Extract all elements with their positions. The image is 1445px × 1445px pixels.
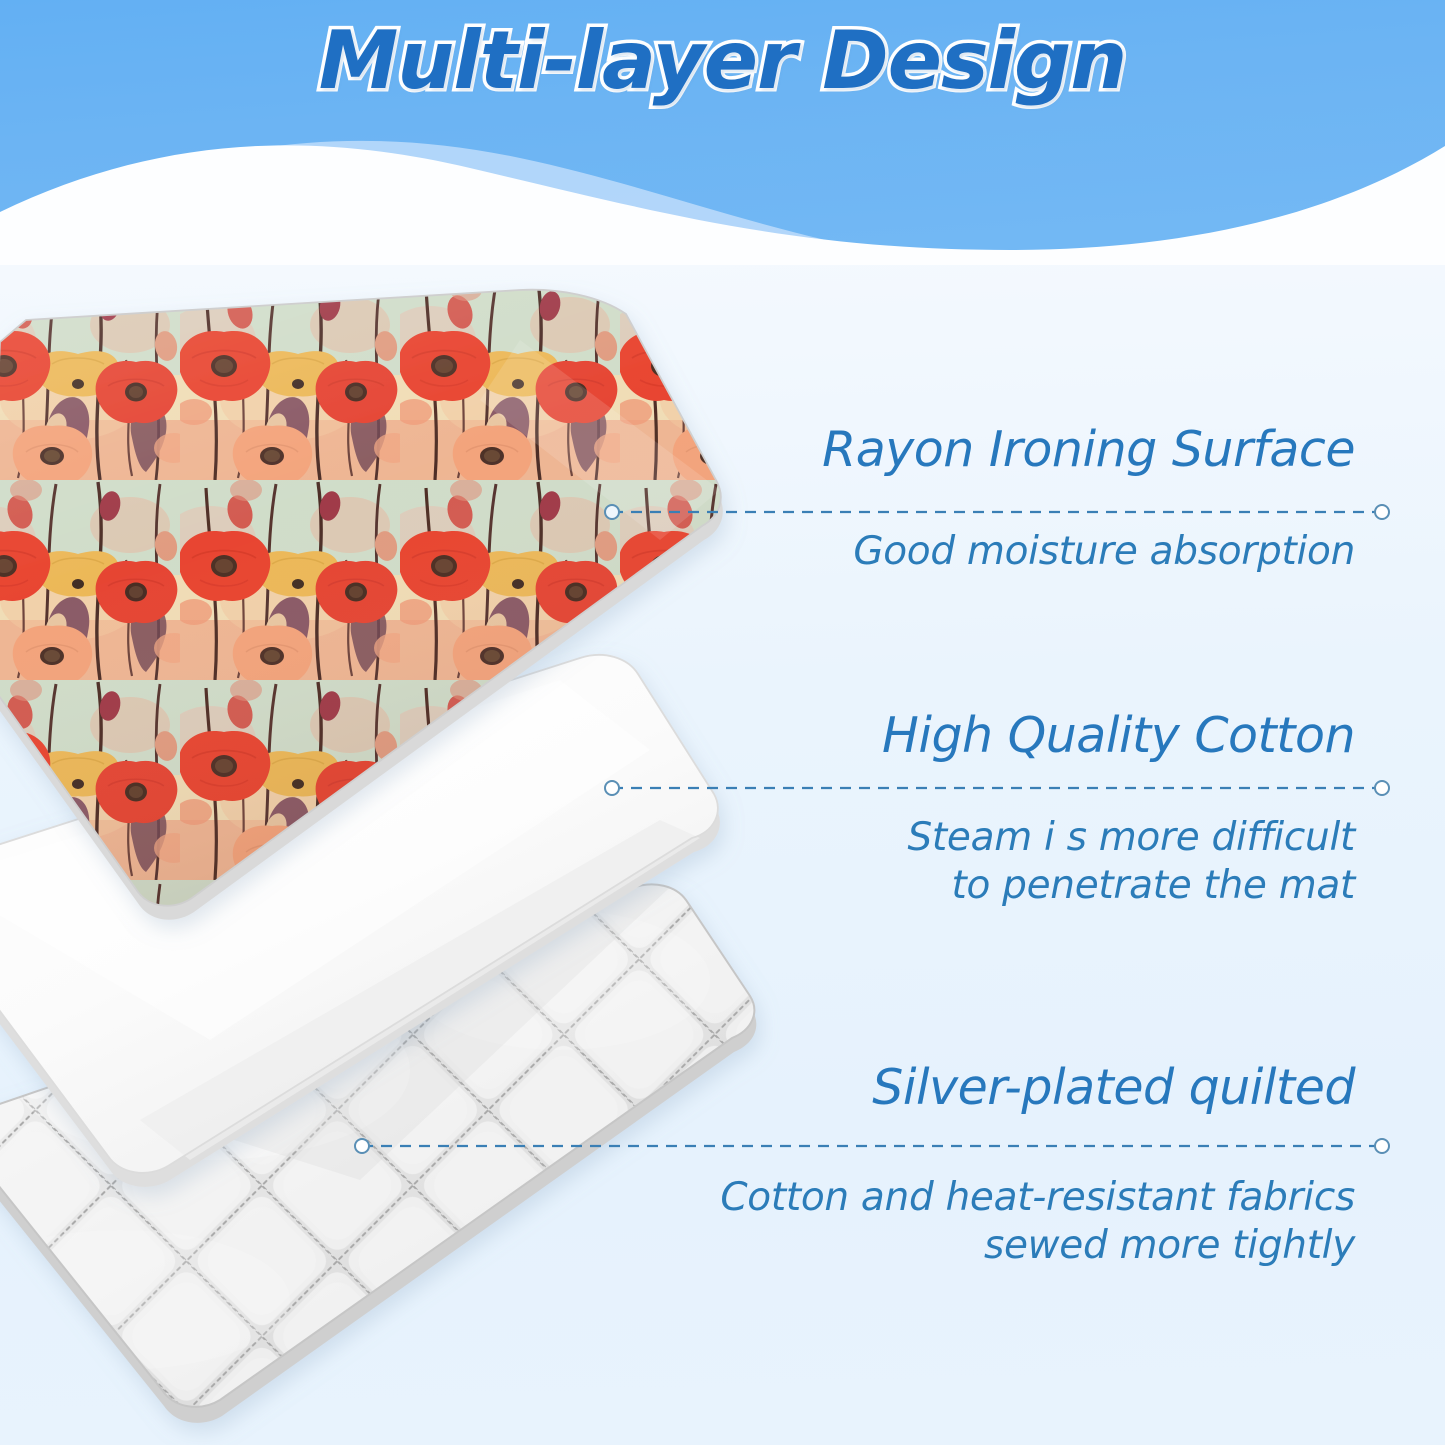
leader-line-quilted bbox=[354, 1138, 1394, 1154]
callout-title-cotton: High Quality Cotton bbox=[882, 710, 1355, 762]
callout-desc-cotton-line-1: Steam i s more difficult bbox=[907, 814, 1355, 862]
callout-title-quilted: Silver-plated quilted bbox=[872, 1062, 1355, 1114]
callout-desc-rayon-line-1: Good moisture absorption bbox=[853, 528, 1355, 576]
callout-title-rayon: Rayon Ironing Surface bbox=[822, 424, 1355, 476]
callout-desc-quilted-line-2: sewed more tightly bbox=[984, 1222, 1355, 1270]
callout-desc-cotton-line-2: to penetrate the mat bbox=[951, 862, 1355, 910]
leader-line-cotton bbox=[604, 780, 1394, 796]
callout-desc-quilted-line-1: Cotton and heat-resistant fabrics bbox=[720, 1174, 1355, 1222]
leader-line-rayon bbox=[604, 504, 1394, 520]
infographic-canvas: Multi-layer Design bbox=[0, 0, 1445, 1445]
layer-stack-illustration bbox=[0, 280, 780, 1445]
header-banner bbox=[0, 0, 1445, 265]
header-wave-decoration bbox=[0, 0, 1445, 265]
